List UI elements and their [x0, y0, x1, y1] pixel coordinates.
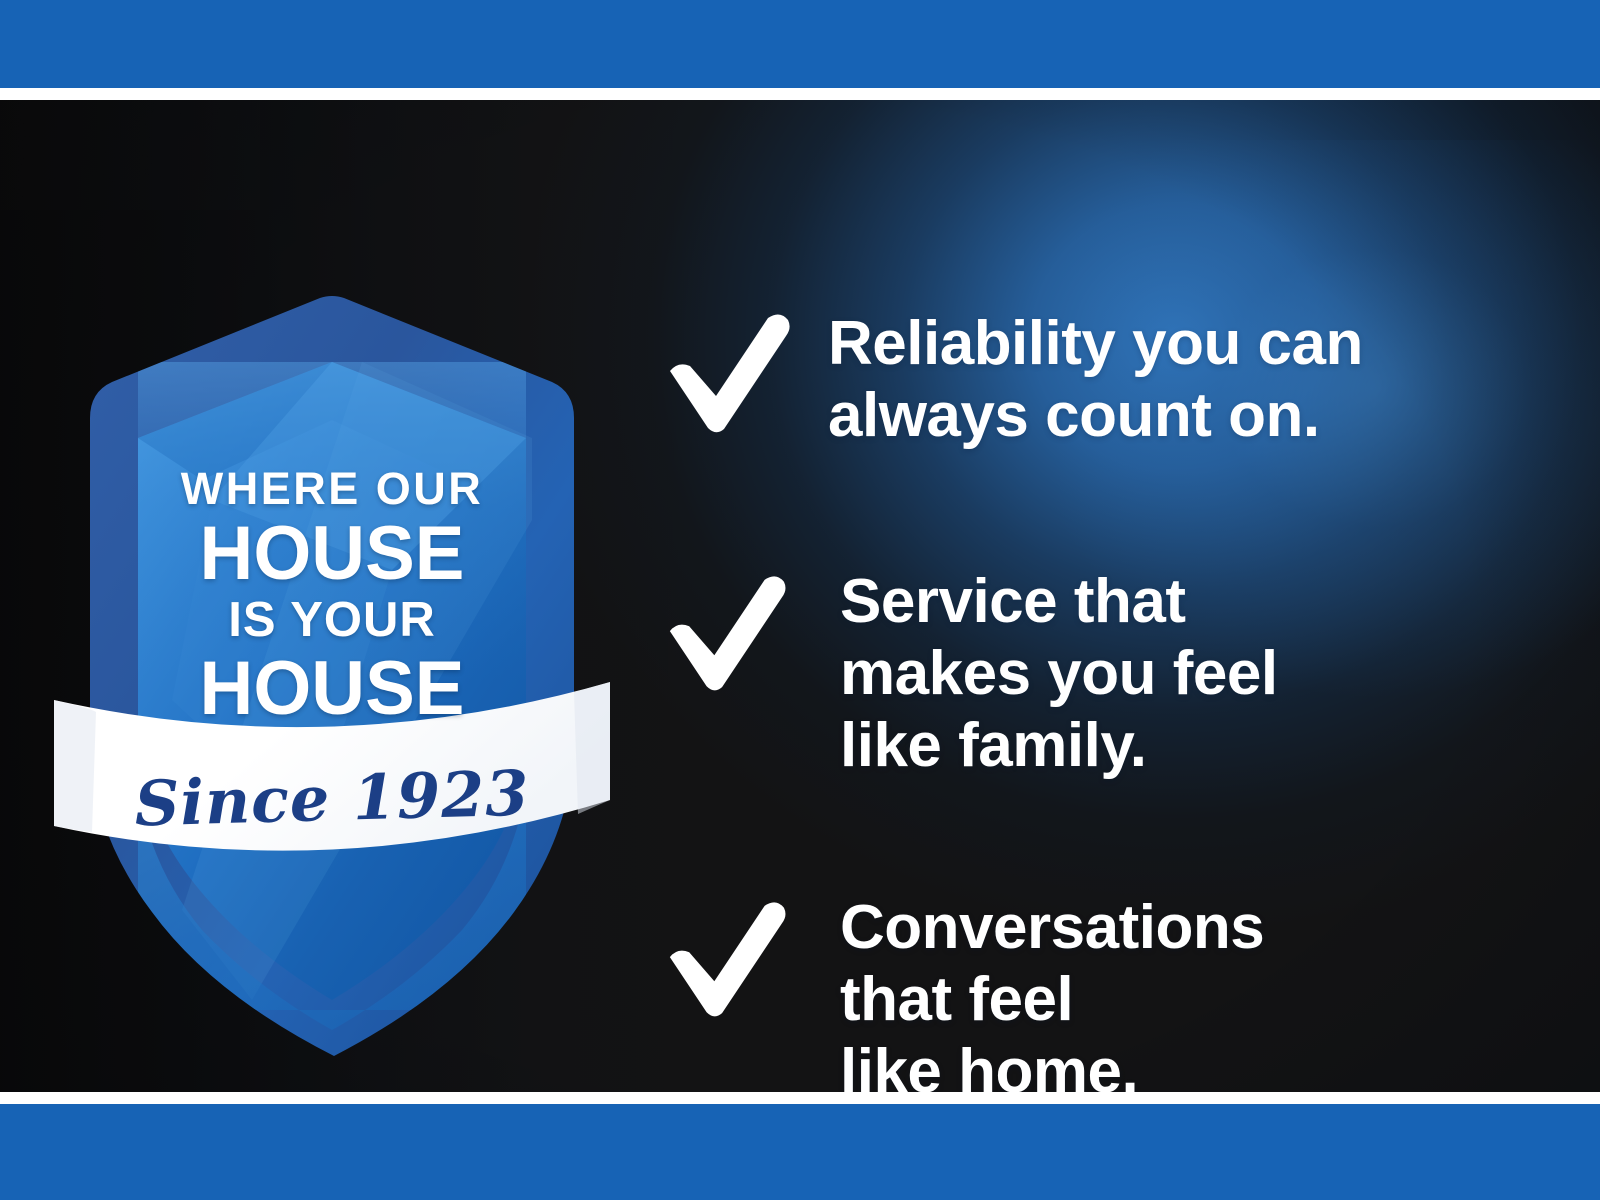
benefit-text: Reliability you can always count on.	[828, 308, 1363, 452]
stage-grain-texture	[0, 100, 260, 210]
check-icon	[660, 892, 830, 1018]
shield-badge: WHERE OUR HOUSE IS YOUR HOUSE Since 1923	[62, 270, 602, 1060]
bottom-brand-band	[0, 1104, 1600, 1200]
bottom-band-divider	[0, 1092, 1600, 1104]
check-icon	[660, 308, 800, 434]
top-band-divider	[0, 88, 1600, 100]
promo-poster: WHERE OUR HOUSE IS YOUR HOUSE Since 1923…	[0, 0, 1600, 1200]
poster-stage: WHERE OUR HOUSE IS YOUR HOUSE Since 1923…	[0, 100, 1600, 1092]
ribbon-shadow-left	[54, 700, 96, 832]
benefit-reliability: Reliability you can always count on.	[660, 308, 1363, 452]
top-brand-band	[0, 0, 1600, 88]
ribbon-shadow-right	[574, 682, 610, 814]
shield-highlight	[138, 362, 526, 682]
benefit-conversations: Conversations that feel like home.	[660, 892, 1264, 1092]
benefit-text: Conversations that feel like home.	[840, 892, 1264, 1092]
benefits-list: Reliability you can always count on. Ser…	[660, 200, 1540, 1092]
benefit-service: Service that makes you feel like family.	[660, 566, 1278, 782]
check-icon	[660, 566, 830, 692]
benefit-text: Service that makes you feel like family.	[840, 566, 1278, 782]
